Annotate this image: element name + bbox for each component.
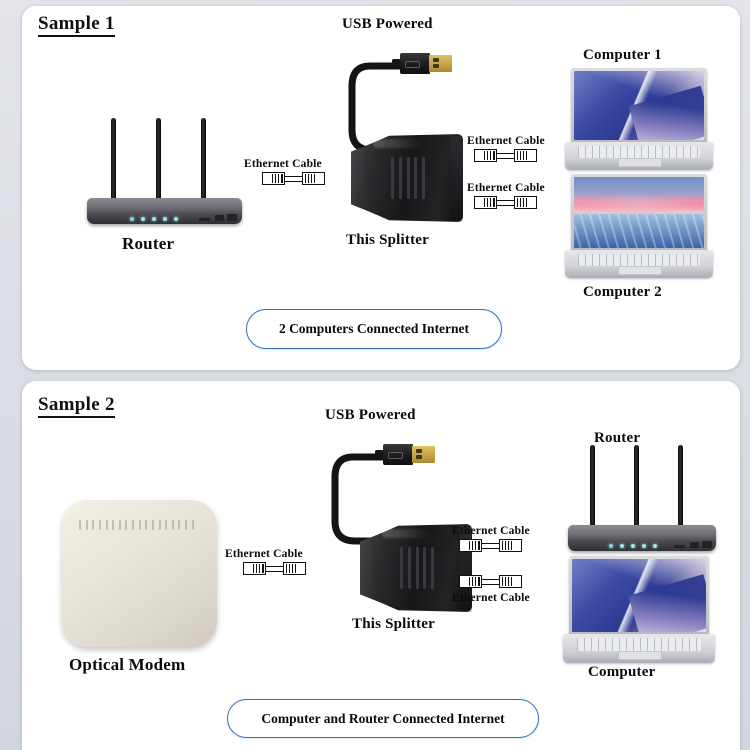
ethernet-cable-icon-in-1	[262, 172, 325, 185]
splitter-label-2: This Splitter	[352, 616, 435, 633]
router-led-strip	[609, 544, 657, 548]
ethernet-cable-label-in-1: Ethernet Cable	[244, 158, 322, 170]
usb-connector-1	[400, 53, 454, 75]
ethernet-cable-icon-out2-2	[459, 575, 522, 588]
laptop-screen	[572, 559, 706, 632]
router-port	[702, 541, 712, 548]
usb-gold-tip	[429, 55, 452, 72]
laptop-base	[565, 142, 713, 170]
router-antenna	[156, 118, 161, 210]
laptop-trackpad	[618, 158, 661, 167]
laptop-lid	[571, 174, 707, 251]
router-antenna	[201, 118, 206, 210]
ethernet-cable-label-in-2: Ethernet Cable	[225, 548, 303, 560]
usb-shell	[383, 444, 413, 465]
sample-2-card: Sample 2 Optical Modem Ethernet Cable US…	[22, 381, 740, 750]
sample-2-summary-badge: Computer and Router Connected Internet	[227, 699, 539, 738]
router-port	[227, 214, 237, 221]
router-led-strip	[130, 217, 178, 221]
laptop-trackpad	[618, 266, 661, 275]
laptop-base	[563, 634, 715, 663]
laptop-computer-3	[563, 556, 715, 663]
ethernet-cable-label-out2-1: Ethernet Cable	[467, 182, 545, 194]
router-antenna	[634, 445, 639, 537]
sample-1-summary-badge: 2 Computers Connected Internet	[246, 309, 502, 349]
router-port	[199, 218, 210, 221]
diagram-page: Sample 1 Router Ethernet Cable U	[0, 0, 750, 750]
ethernet-cable-icon-out2-1	[474, 196, 537, 209]
laptop-lid	[569, 556, 709, 635]
sample-1-title: Sample 1	[38, 14, 115, 37]
router-device-2	[568, 447, 716, 559]
laptop-keyboard	[577, 638, 702, 651]
laptop-screen	[574, 71, 704, 140]
router-antenna	[678, 445, 683, 537]
usb-connector-2	[383, 444, 437, 466]
optical-modem-label: Optical Modem	[69, 655, 185, 675]
laptop-keyboard	[578, 146, 699, 158]
router-antenna	[111, 118, 116, 210]
router-device-1	[87, 114, 242, 232]
computer-2-label: Computer 2	[583, 284, 662, 301]
splitter-device-1	[351, 134, 463, 222]
laptop-keyboard	[578, 254, 699, 266]
router-label-1: Router	[122, 234, 174, 254]
usb-gold-tip	[412, 446, 435, 463]
computer-label-2: Computer	[588, 664, 655, 681]
ethernet-cable-icon-out1-1	[474, 149, 537, 162]
sample-2-title: Sample 2	[38, 395, 115, 418]
router-port	[215, 215, 224, 221]
usb-powered-label-2: USB Powered	[325, 407, 416, 424]
router-label-2: Router	[594, 430, 640, 447]
laptop-screen	[574, 177, 704, 248]
router-port	[674, 545, 685, 548]
laptop-trackpad	[618, 651, 663, 661]
laptop-base	[565, 250, 713, 278]
laptop-lid	[571, 68, 707, 143]
laptop-computer-1	[565, 68, 713, 170]
laptop-computer-2	[565, 174, 713, 278]
ethernet-cable-icon-in-2	[243, 562, 306, 575]
computer-1-label: Computer 1	[583, 47, 662, 64]
ethernet-cable-icon-out1-2	[459, 539, 522, 552]
ethernet-cable-label-out1-2: Ethernet Cable	[452, 525, 530, 537]
splitter-label-1: This Splitter	[346, 232, 429, 249]
router-port	[690, 542, 699, 548]
sample-1-card: Sample 1 Router Ethernet Cable U	[22, 6, 740, 370]
router-antenna	[590, 445, 595, 537]
optical-modem-device	[62, 499, 217, 647]
ethernet-cable-label-out1-1: Ethernet Cable	[467, 135, 545, 147]
modem-vents	[79, 520, 194, 530]
usb-shell	[400, 53, 430, 74]
ethernet-cable-label-out2-2: Ethernet Cable	[452, 592, 530, 604]
usb-powered-label-1: USB Powered	[342, 16, 433, 33]
